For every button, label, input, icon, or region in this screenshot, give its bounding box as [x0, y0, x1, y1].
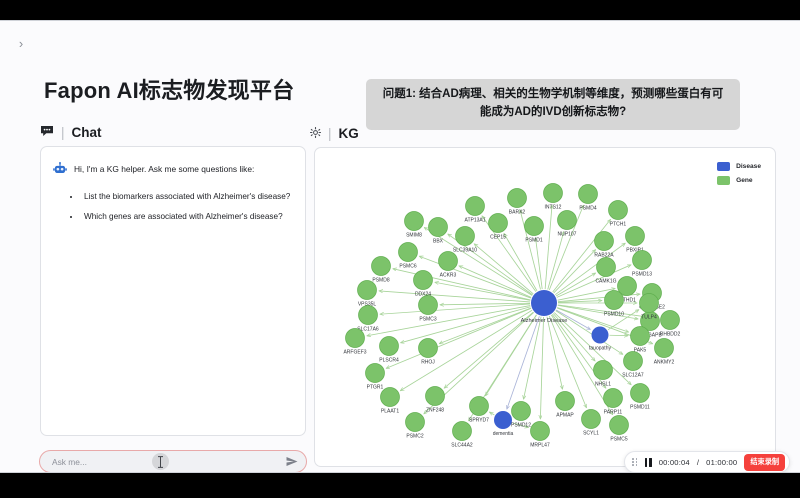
graph-node-label: NHSL1	[595, 382, 611, 388]
graph-node-label: PLSCR4	[379, 358, 399, 364]
graph-node-circle[interactable]	[466, 197, 485, 216]
graph-node-circle[interactable]	[399, 243, 418, 262]
graph-node-gene[interactable]: PLSCR4	[379, 337, 399, 364]
graph-node-circle[interactable]	[439, 252, 458, 271]
graph-node-label: ACKR3	[440, 273, 457, 279]
graph-edge	[386, 308, 531, 368]
graph-node-circle[interactable]	[419, 296, 438, 315]
graph-node-label: dementia	[493, 431, 514, 437]
graph-node-circle[interactable]	[597, 258, 616, 277]
letterbox-bottom	[0, 473, 800, 498]
graph-node-gene[interactable]: PARP11	[604, 389, 623, 416]
graph-node-label: PSMD8	[372, 278, 389, 284]
graph-node-gene[interactable]: INTS12	[544, 184, 563, 211]
graph-node-gene[interactable]: CEP15	[489, 214, 508, 241]
graph-node-circle[interactable]	[372, 257, 391, 276]
graph-node-circle[interactable]	[470, 397, 489, 416]
graph-node-label: PSMD1	[525, 238, 542, 244]
graph-node-gene[interactable]: PSMD4	[579, 185, 598, 212]
graph-node-label: PSMD10	[604, 312, 624, 318]
chat-suggestion-item[interactable]: Which genes are associated with Alzheime…	[81, 211, 295, 222]
graph-node-label: RHOJ	[421, 360, 435, 366]
recording-time-separator: /	[697, 458, 699, 467]
graph-node-gene[interactable]: NUP107	[558, 211, 577, 238]
graph-node-circle[interactable]	[633, 251, 652, 270]
graph-node-label: TULP4	[641, 315, 657, 321]
graph-edge	[393, 269, 531, 300]
graph-node-gene[interactable]: SCYL1	[582, 410, 601, 437]
graph-node-circle[interactable]	[604, 389, 623, 408]
graph-node-gene[interactable]: VPS35L	[358, 281, 377, 308]
graph-node-gene[interactable]: BARX2	[508, 189, 527, 216]
graph-node-circle[interactable]	[358, 281, 377, 300]
graph-node-label: RHBDD2	[660, 332, 681, 338]
legend-swatch-disease	[717, 162, 730, 171]
graph-node-circle[interactable]	[531, 422, 550, 441]
graph-node-label: PLAAT1	[381, 409, 399, 415]
graph-edge	[401, 307, 531, 343]
graph-node-gene[interactable]: DDX24	[414, 271, 433, 298]
chat-welcome-message: Hi, I'm a KG helper. Ask me some questio…	[53, 161, 295, 231]
gear-icon	[310, 126, 321, 141]
app-viewport: › Fapon AI标志物发现平台 | Chat	[0, 20, 800, 473]
kg-section-header: | KG	[310, 126, 359, 141]
graph-edge	[380, 304, 530, 314]
recording-total-duration: 01:00:00	[706, 458, 737, 467]
send-arrow-icon[interactable]	[286, 456, 298, 467]
graph-edge	[523, 317, 541, 400]
graph-node-label: PSMD13	[632, 272, 652, 278]
graph-node-circle[interactable]	[595, 232, 614, 251]
graph-node-gene[interactable]: PSMC2	[406, 413, 425, 440]
graph-node-label: PSMC5	[610, 437, 627, 443]
graph-node-circle[interactable]	[544, 184, 563, 203]
graph-node-label: INTS12	[545, 205, 562, 211]
legend-label-gene: Gene	[736, 177, 753, 184]
chat-input-container[interactable]	[39, 450, 307, 473]
pause-icon[interactable]	[645, 458, 652, 467]
kg-header-divider: |	[328, 126, 332, 141]
graph-node-label: tauopathy	[589, 346, 611, 352]
graph-node-label: MRPL47	[530, 443, 550, 449]
chat-header-label: Chat	[72, 125, 102, 140]
graph-node-label: Alzheimer Disease	[521, 318, 568, 324]
graph-node-label: PSMC2	[406, 434, 423, 440]
graph-edge	[540, 317, 543, 419]
graph-node-circle[interactable]	[419, 339, 438, 358]
graph-node-circle[interactable]	[631, 327, 650, 346]
graph-node-label: ANKMY2	[654, 360, 675, 366]
graph-node-circle[interactable]	[489, 214, 508, 233]
graph-node-label: PAK5	[634, 348, 647, 354]
graph-node-circle[interactable]	[631, 384, 650, 403]
graph-node-circle[interactable]	[346, 329, 365, 348]
graph-node-circle[interactable]	[426, 387, 445, 406]
graph-node-circle[interactable]	[525, 217, 544, 236]
graph-node-label: SLC12A7	[622, 373, 644, 379]
graph-node-circle[interactable]	[661, 311, 680, 330]
graph-node-gene[interactable]: PAK5	[631, 327, 650, 354]
legend-label-disease: Disease	[736, 163, 761, 170]
graph-node-gene[interactable]: ACKR3	[439, 252, 458, 279]
graph-node-gene[interactable]: PBXIP1	[626, 227, 645, 254]
chat-suggestion-item[interactable]: List the biomarkers associated with Alzh…	[81, 191, 295, 202]
graph-edge	[489, 412, 494, 415]
graph-node-gene[interactable]: PLAAT1	[381, 388, 400, 415]
question-banner: 问题1: 结合AD病理、相关的生物学机制等维度，预测哪些蛋白有可能成为AD的IV…	[366, 79, 740, 130]
graph-node-label: PARP11	[604, 410, 623, 416]
graph-node-circle[interactable]	[556, 392, 575, 411]
graph-node-label: PTCH1	[610, 222, 627, 228]
graph-node-gene[interactable]: RHBDD2	[660, 311, 681, 338]
graph-edge	[547, 317, 563, 390]
graph-node-gene[interactable]: SLC12A7	[622, 352, 644, 379]
graph-node-label: SLC39A10	[453, 248, 477, 254]
graph-node-gene[interactable]: RHOJ	[419, 339, 438, 366]
graph-node-circle[interactable]	[592, 327, 609, 344]
graph-node-label: SPRYD7	[469, 418, 489, 424]
graph-node-label: NUP107	[558, 232, 577, 238]
graph-edge	[367, 306, 530, 336]
graph-node-label: BARX2	[509, 210, 526, 216]
graph-node-label: SCYL1	[583, 431, 599, 437]
chat-input[interactable]	[52, 457, 286, 467]
graph-node-gene[interactable]: PSMD12	[511, 402, 531, 429]
graph-node-label: PSMD4	[579, 206, 596, 212]
graph-node-gene[interactable]: SLC44A2	[451, 422, 473, 449]
graph-node-gene[interactable]: TULP4	[640, 294, 659, 321]
graph-node-label: BBX	[433, 239, 444, 245]
graph-node-disease[interactable]: tauopathy	[589, 327, 611, 352]
chat-header-divider: |	[61, 125, 65, 140]
graph-node-circle[interactable]	[405, 212, 424, 231]
graph-node-circle[interactable]	[531, 290, 557, 316]
screen-recorder-bar[interactable]: 00:00:04 / 01:00:00 结束录制	[624, 451, 790, 473]
graph-node-gene[interactable]: CAMK1G	[595, 258, 616, 285]
graph-node-gene[interactable]: PTCH1	[609, 201, 628, 228]
graph-node-label: ARFGEF3	[343, 350, 366, 356]
graph-node-gene[interactable]: PSMC3	[419, 296, 438, 323]
graph-node-circle[interactable]	[624, 352, 643, 371]
graph-node-label: PSMD11	[630, 405, 650, 411]
graph-node-circle[interactable]	[605, 291, 624, 310]
graph-edge	[459, 266, 531, 298]
graph-node-circle[interactable]	[366, 364, 385, 383]
graph-node-gene[interactable]: MRPL47	[530, 422, 550, 449]
graph-edge	[554, 250, 596, 293]
knowledge-graph-canvas[interactable]: Alzheimer DiseasetauopathydementiaBARX2I…	[315, 148, 776, 467]
graph-node-circle[interactable]	[609, 201, 628, 220]
legend-item-disease: Disease	[717, 162, 761, 171]
graph-node-circle[interactable]	[406, 413, 425, 432]
graph-node-gene[interactable]: SMIM8	[405, 212, 424, 239]
chat-section-header: | Chat	[40, 125, 102, 140]
graph-node-gene[interactable]: PTGR1	[366, 364, 385, 391]
kg-header-label: KG	[339, 126, 359, 141]
graph-node-circle[interactable]	[456, 227, 475, 246]
page-title: Fapon AI标志物发现平台	[44, 73, 294, 105]
graph-node-circle[interactable]	[453, 422, 472, 441]
graph-node-gene[interactable]: ATP13A1	[464, 197, 485, 224]
graph-legend: Disease Gene	[717, 162, 761, 185]
graph-node-label: PSMD12	[511, 423, 531, 429]
graph-node-gene[interactable]: PSMD1	[525, 217, 544, 244]
graph-node-circle[interactable]	[429, 218, 448, 237]
graph-node-gene[interactable]: PSMD8	[372, 257, 391, 284]
sidebar-expand-chevron-icon[interactable]: ›	[13, 36, 29, 52]
chat-bubble-icon	[40, 125, 54, 140]
recording-elapsed-time: 00:00:04	[659, 458, 690, 467]
graph-node-label: ATP13A1	[464, 218, 485, 224]
graph-node-label: PTGR1	[367, 385, 384, 391]
graph-node-gene[interactable]: ANKMY2	[654, 339, 675, 366]
graph-node-label: SLC44A2	[451, 443, 473, 449]
graph-node-gene[interactable]: ZNF248	[426, 387, 445, 414]
graph-node-circle[interactable]	[626, 227, 645, 246]
graph-node-circle[interactable]	[414, 271, 433, 290]
graph-node-circle[interactable]	[512, 402, 531, 421]
legend-item-gene: Gene	[717, 176, 761, 185]
graph-node-label: APMAP	[556, 413, 574, 419]
graph-node-gene[interactable]: PSMC6	[399, 243, 418, 270]
graph-node-gene[interactable]: PSMC5	[610, 416, 629, 443]
graph-node-label: CEP15	[490, 235, 506, 241]
chat-panel: Hi, I'm a KG helper. Ask me some questio…	[40, 146, 306, 436]
chat-suggestion-list: List the biomarkers associated with Alzh…	[81, 191, 295, 222]
graph-node-circle[interactable]	[640, 294, 659, 313]
graph-node-label: PSMC6	[399, 264, 416, 270]
graph-node-circle[interactable]	[359, 306, 378, 325]
graph-node-label: SMIM8	[406, 233, 422, 239]
graph-node-gene[interactable]: PSMD13	[632, 251, 652, 278]
graph-node-gene[interactable]: RAB22A	[594, 232, 614, 259]
graph-node-gene[interactable]: SPRYD7	[469, 397, 489, 424]
graph-node-circle[interactable]	[594, 361, 613, 380]
knowledge-graph-panel[interactable]: Alzheimer DiseasetauopathydementiaBARX2I…	[314, 147, 776, 467]
stop-recording-button[interactable]: 结束录制	[744, 454, 785, 471]
legend-swatch-gene	[717, 176, 730, 185]
chat-greeting-text: Hi, I'm a KG helper. Ask me some questio…	[74, 161, 254, 175]
graph-node-circle[interactable]	[494, 411, 512, 429]
graph-node-gene[interactable]: PSMD10	[604, 291, 624, 318]
graph-node-label: CAMK1G	[595, 279, 616, 285]
graph-node-gene[interactable]: SLC39A10	[453, 227, 477, 254]
graph-node-label: PSMC3	[419, 317, 436, 323]
graph-node-circle[interactable]	[579, 185, 598, 204]
graph-node-gene[interactable]: PSMD11	[630, 384, 650, 411]
graph-node-circle[interactable]	[582, 410, 601, 429]
graph-node-gene[interactable]: SLC17A6	[357, 306, 379, 333]
robot-icon	[53, 162, 67, 181]
graph-node-gene[interactable]: NHSL1	[594, 361, 613, 388]
letterbox-top	[0, 0, 800, 20]
graph-node-circle[interactable]	[508, 189, 527, 208]
graph-node-label: ZNF248	[426, 408, 444, 414]
graph-node-gene[interactable]: APMAP	[556, 392, 575, 419]
graph-node-circle[interactable]	[381, 388, 400, 407]
graph-node-circle[interactable]	[655, 339, 674, 358]
graph-node-circle[interactable]	[380, 337, 399, 356]
drag-dots-icon[interactable]	[632, 458, 638, 466]
graph-node-circle[interactable]	[558, 211, 577, 230]
graph-node-circle[interactable]	[610, 416, 629, 435]
